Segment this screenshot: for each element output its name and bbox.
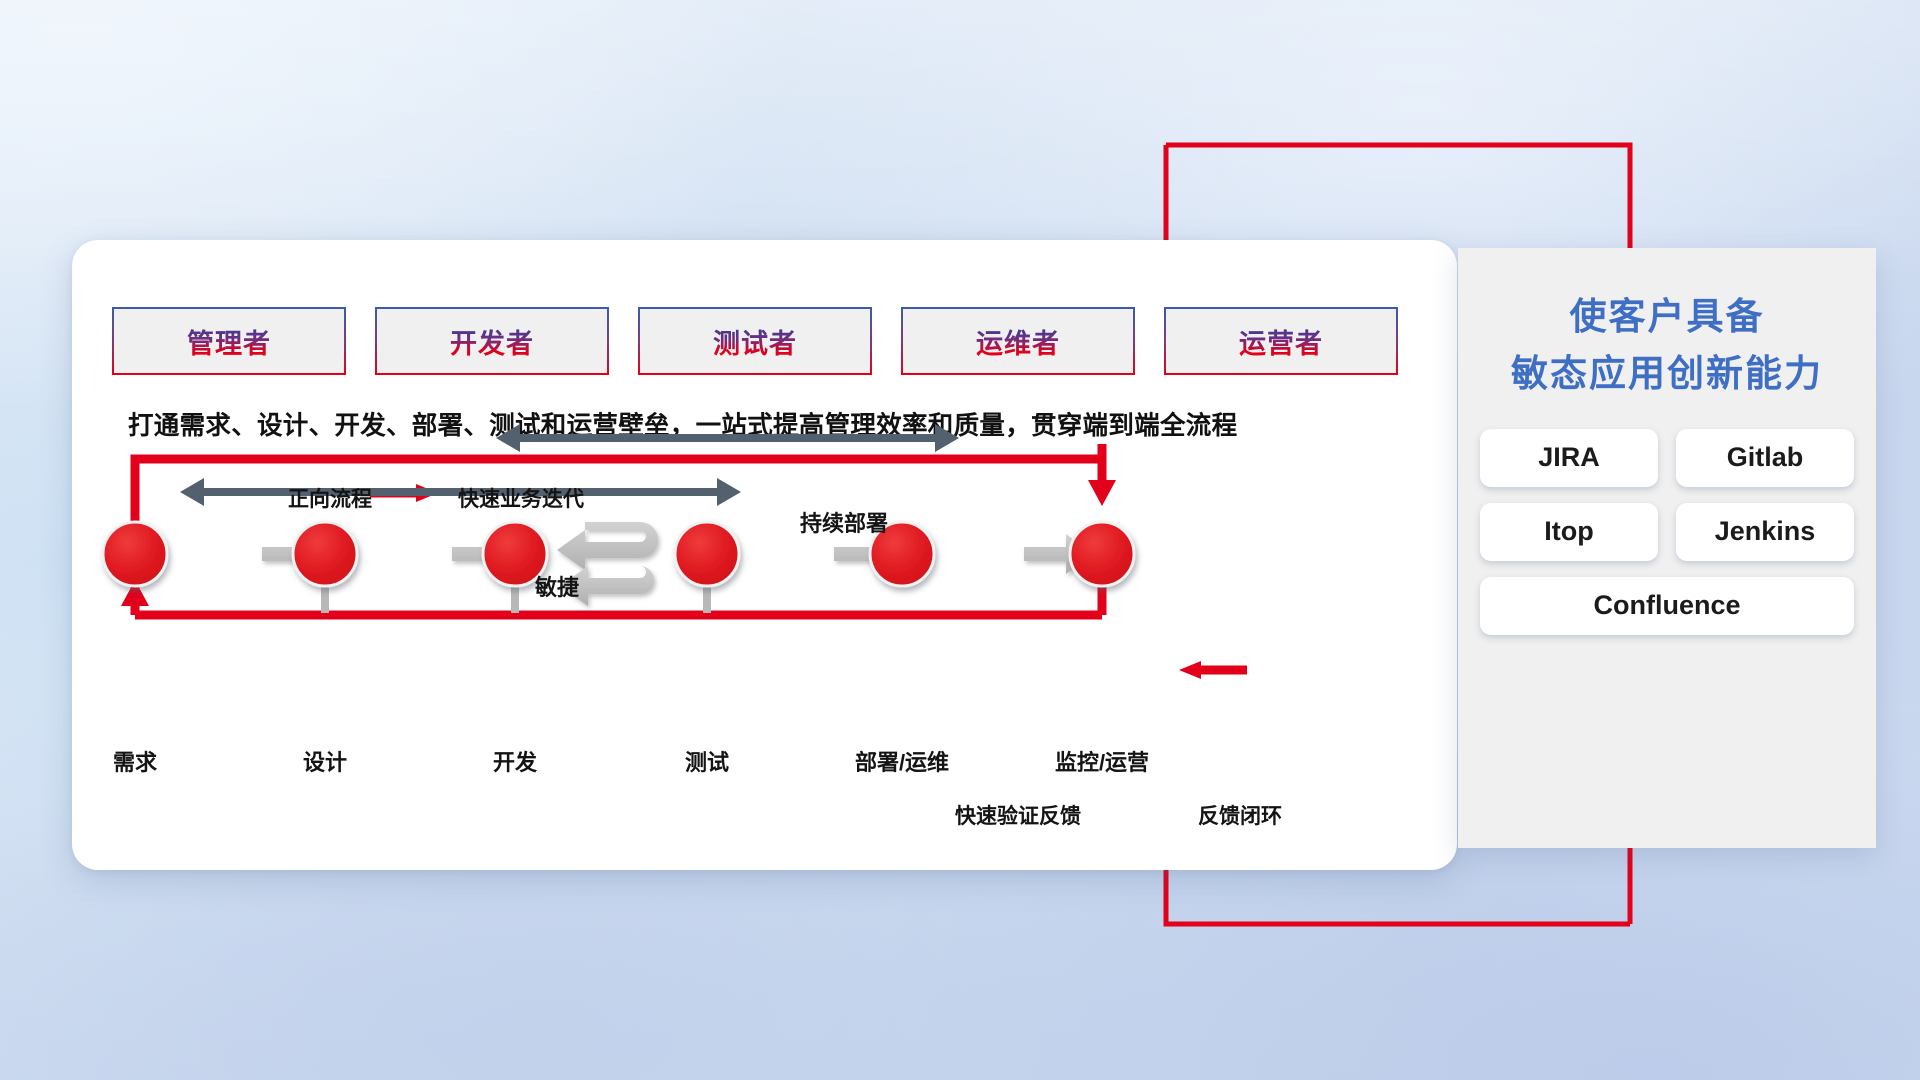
value-proposition-panel: 使客户具备 敏态应用创新能力 JIRA Gitlab Itop Jenkins … bbox=[1458, 248, 1876, 848]
label-fast-verification: 快速验证反馈 bbox=[955, 800, 1081, 830]
stage-label-requirements: 需求 bbox=[113, 745, 157, 777]
stage-label-design: 设计 bbox=[303, 745, 347, 777]
stage-label-development: 开发 bbox=[493, 745, 537, 777]
panel-title: 使客户具备 敏态应用创新能力 bbox=[1458, 288, 1876, 403]
feedback-loop-arrow-icon bbox=[1179, 661, 1247, 679]
tool-jira[interactable]: JIRA bbox=[1480, 429, 1658, 487]
node-design bbox=[293, 522, 357, 586]
node-requirements bbox=[103, 522, 167, 586]
tool-gitlab[interactable]: Gitlab bbox=[1676, 429, 1854, 487]
tool-list: JIRA Gitlab Itop Jenkins Confluence bbox=[1480, 429, 1854, 635]
stage-label-testing: 测试 bbox=[685, 745, 729, 777]
label-fast-iteration: 快速业务迭代 bbox=[458, 483, 584, 513]
stage-label-monitor-ops: 监控/运营 bbox=[1055, 745, 1149, 777]
devops-pipeline-diagram bbox=[72, 240, 1457, 870]
panel-title-line-2: 敏态应用创新能力 bbox=[1458, 345, 1876, 402]
node-monitor-ops bbox=[1070, 522, 1134, 586]
label-feedback-loop: 反馈闭环 bbox=[1198, 800, 1282, 830]
tool-jenkins[interactable]: Jenkins bbox=[1676, 503, 1854, 561]
tool-itop[interactable]: Itop bbox=[1480, 503, 1658, 561]
tool-confluence[interactable]: Confluence bbox=[1480, 577, 1854, 635]
node-testing bbox=[675, 522, 739, 586]
label-agile: 敏捷 bbox=[535, 570, 579, 602]
label-forward-flow: 正向流程 bbox=[288, 483, 372, 513]
label-continuous-deployment: 持续部署 bbox=[800, 506, 888, 538]
continuous-deployment-arrow-icon bbox=[496, 424, 959, 452]
panel-title-line-1: 使客户具备 bbox=[1458, 288, 1876, 345]
stage-label-deploy-ops: 部署/运维 bbox=[855, 745, 949, 777]
